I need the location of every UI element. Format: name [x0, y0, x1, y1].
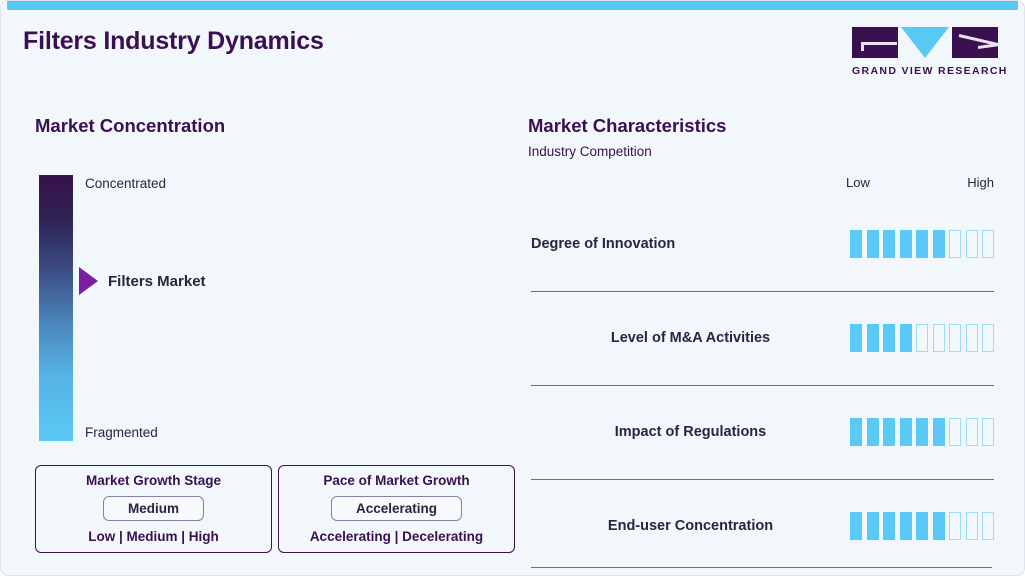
- concentration-gradient-bar: [39, 175, 73, 441]
- logo-triangle-down-icon: [901, 27, 949, 58]
- meter-segment: [916, 512, 928, 540]
- characteristic-meter: [850, 512, 994, 540]
- meter-segment: [850, 230, 862, 258]
- market-position-label: Filters Market: [108, 273, 206, 290]
- meter-segment: [933, 512, 945, 540]
- characteristics-bottom-divider: [531, 567, 992, 568]
- arrow-right-icon: [79, 267, 98, 295]
- page-title: Filters Industry Dynamics: [23, 27, 324, 56]
- meter-segment: [933, 418, 945, 446]
- info-box-value: Accelerating: [331, 496, 462, 521]
- meter-segment: [867, 512, 879, 540]
- market-characteristics-subtitle: Industry Competition: [528, 144, 652, 159]
- market-concentration-title: Market Concentration: [35, 115, 225, 137]
- meter-segment: [933, 324, 945, 352]
- meter-segment: [966, 418, 978, 446]
- meter-segment: [982, 230, 994, 258]
- characteristic-label: Level of M&A Activities: [611, 330, 770, 346]
- meter-segment: [883, 324, 895, 352]
- meter-segment: [933, 230, 945, 258]
- characteristic-row: Impact of Regulations: [531, 385, 994, 479]
- meter-scale-labels: Low High: [846, 175, 994, 190]
- market-position-marker: Filters Market: [79, 267, 206, 295]
- characteristic-label: Impact of Regulations: [615, 424, 766, 440]
- info-box-scale: Accelerating | Decelerating: [310, 529, 483, 544]
- meter-segment: [900, 324, 912, 352]
- meter-segment: [949, 324, 961, 352]
- gradient-top-label: Concentrated: [85, 176, 166, 191]
- meter-segment: [900, 512, 912, 540]
- meter-segment: [883, 230, 895, 258]
- info-box-value: Medium: [103, 496, 204, 521]
- characteristic-row: Level of M&A Activities: [531, 291, 994, 385]
- characteristic-row: Degree of Innovation: [531, 197, 994, 291]
- logo-rect-right-icon: [952, 27, 998, 58]
- logo-rect-left-icon: [852, 27, 898, 58]
- meter-segment: [883, 418, 895, 446]
- meter-segment: [949, 230, 961, 258]
- characteristic-meter: [850, 324, 994, 352]
- meter-segment: [982, 512, 994, 540]
- row-divider: [531, 479, 994, 480]
- logo-wordmark: GRAND VIEW RESEARCH: [852, 65, 998, 77]
- meter-segment: [867, 418, 879, 446]
- meter-segment: [966, 324, 978, 352]
- info-box-market-growth-stage: Market Growth Stage Medium Low | Medium …: [35, 465, 272, 553]
- info-boxes: Market Growth Stage Medium Low | Medium …: [35, 465, 515, 553]
- meter-segment: [900, 230, 912, 258]
- row-divider: [531, 291, 994, 292]
- meter-segment: [966, 512, 978, 540]
- meter-segment: [982, 324, 994, 352]
- characteristic-label: End-user Concentration: [608, 518, 773, 534]
- meter-segment: [867, 324, 879, 352]
- info-box-title: Market Growth Stage: [86, 473, 221, 488]
- meter-segment: [900, 418, 912, 446]
- row-divider: [531, 385, 994, 386]
- meter-segment: [916, 230, 928, 258]
- meter-segment: [966, 230, 978, 258]
- gradient-bottom-label: Fragmented: [85, 425, 158, 440]
- scale-high-label: High: [967, 175, 994, 190]
- infographic-card: Filters Industry Dynamics GRAND VIEW RES…: [0, 0, 1025, 576]
- info-box-title: Pace of Market Growth: [323, 473, 469, 488]
- info-box-scale: Low | Medium | High: [88, 529, 219, 544]
- top-accent-bar: [7, 1, 1018, 10]
- meter-segment: [850, 418, 862, 446]
- characteristics-rows: Degree of InnovationLevel of M&A Activit…: [531, 197, 994, 573]
- meter-segment: [949, 418, 961, 446]
- characteristic-meter: [850, 418, 994, 446]
- meter-segment: [916, 324, 928, 352]
- meter-segment: [982, 418, 994, 446]
- info-box-pace-of-market-growth: Pace of Market Growth Accelerating Accel…: [278, 465, 515, 553]
- characteristic-row: End-user Concentration: [531, 479, 994, 573]
- meter-segment: [949, 512, 961, 540]
- characteristic-meter: [850, 230, 994, 258]
- meter-segment: [916, 418, 928, 446]
- meter-segment: [850, 512, 862, 540]
- meter-segment: [883, 512, 895, 540]
- meter-segment: [867, 230, 879, 258]
- meter-segment: [850, 324, 862, 352]
- logo-marks: [852, 27, 998, 60]
- brand-logo: GRAND VIEW RESEARCH: [852, 27, 998, 77]
- market-characteristics-title: Market Characteristics: [528, 115, 726, 137]
- scale-low-label: Low: [846, 175, 870, 190]
- characteristic-label: Degree of Innovation: [531, 236, 675, 252]
